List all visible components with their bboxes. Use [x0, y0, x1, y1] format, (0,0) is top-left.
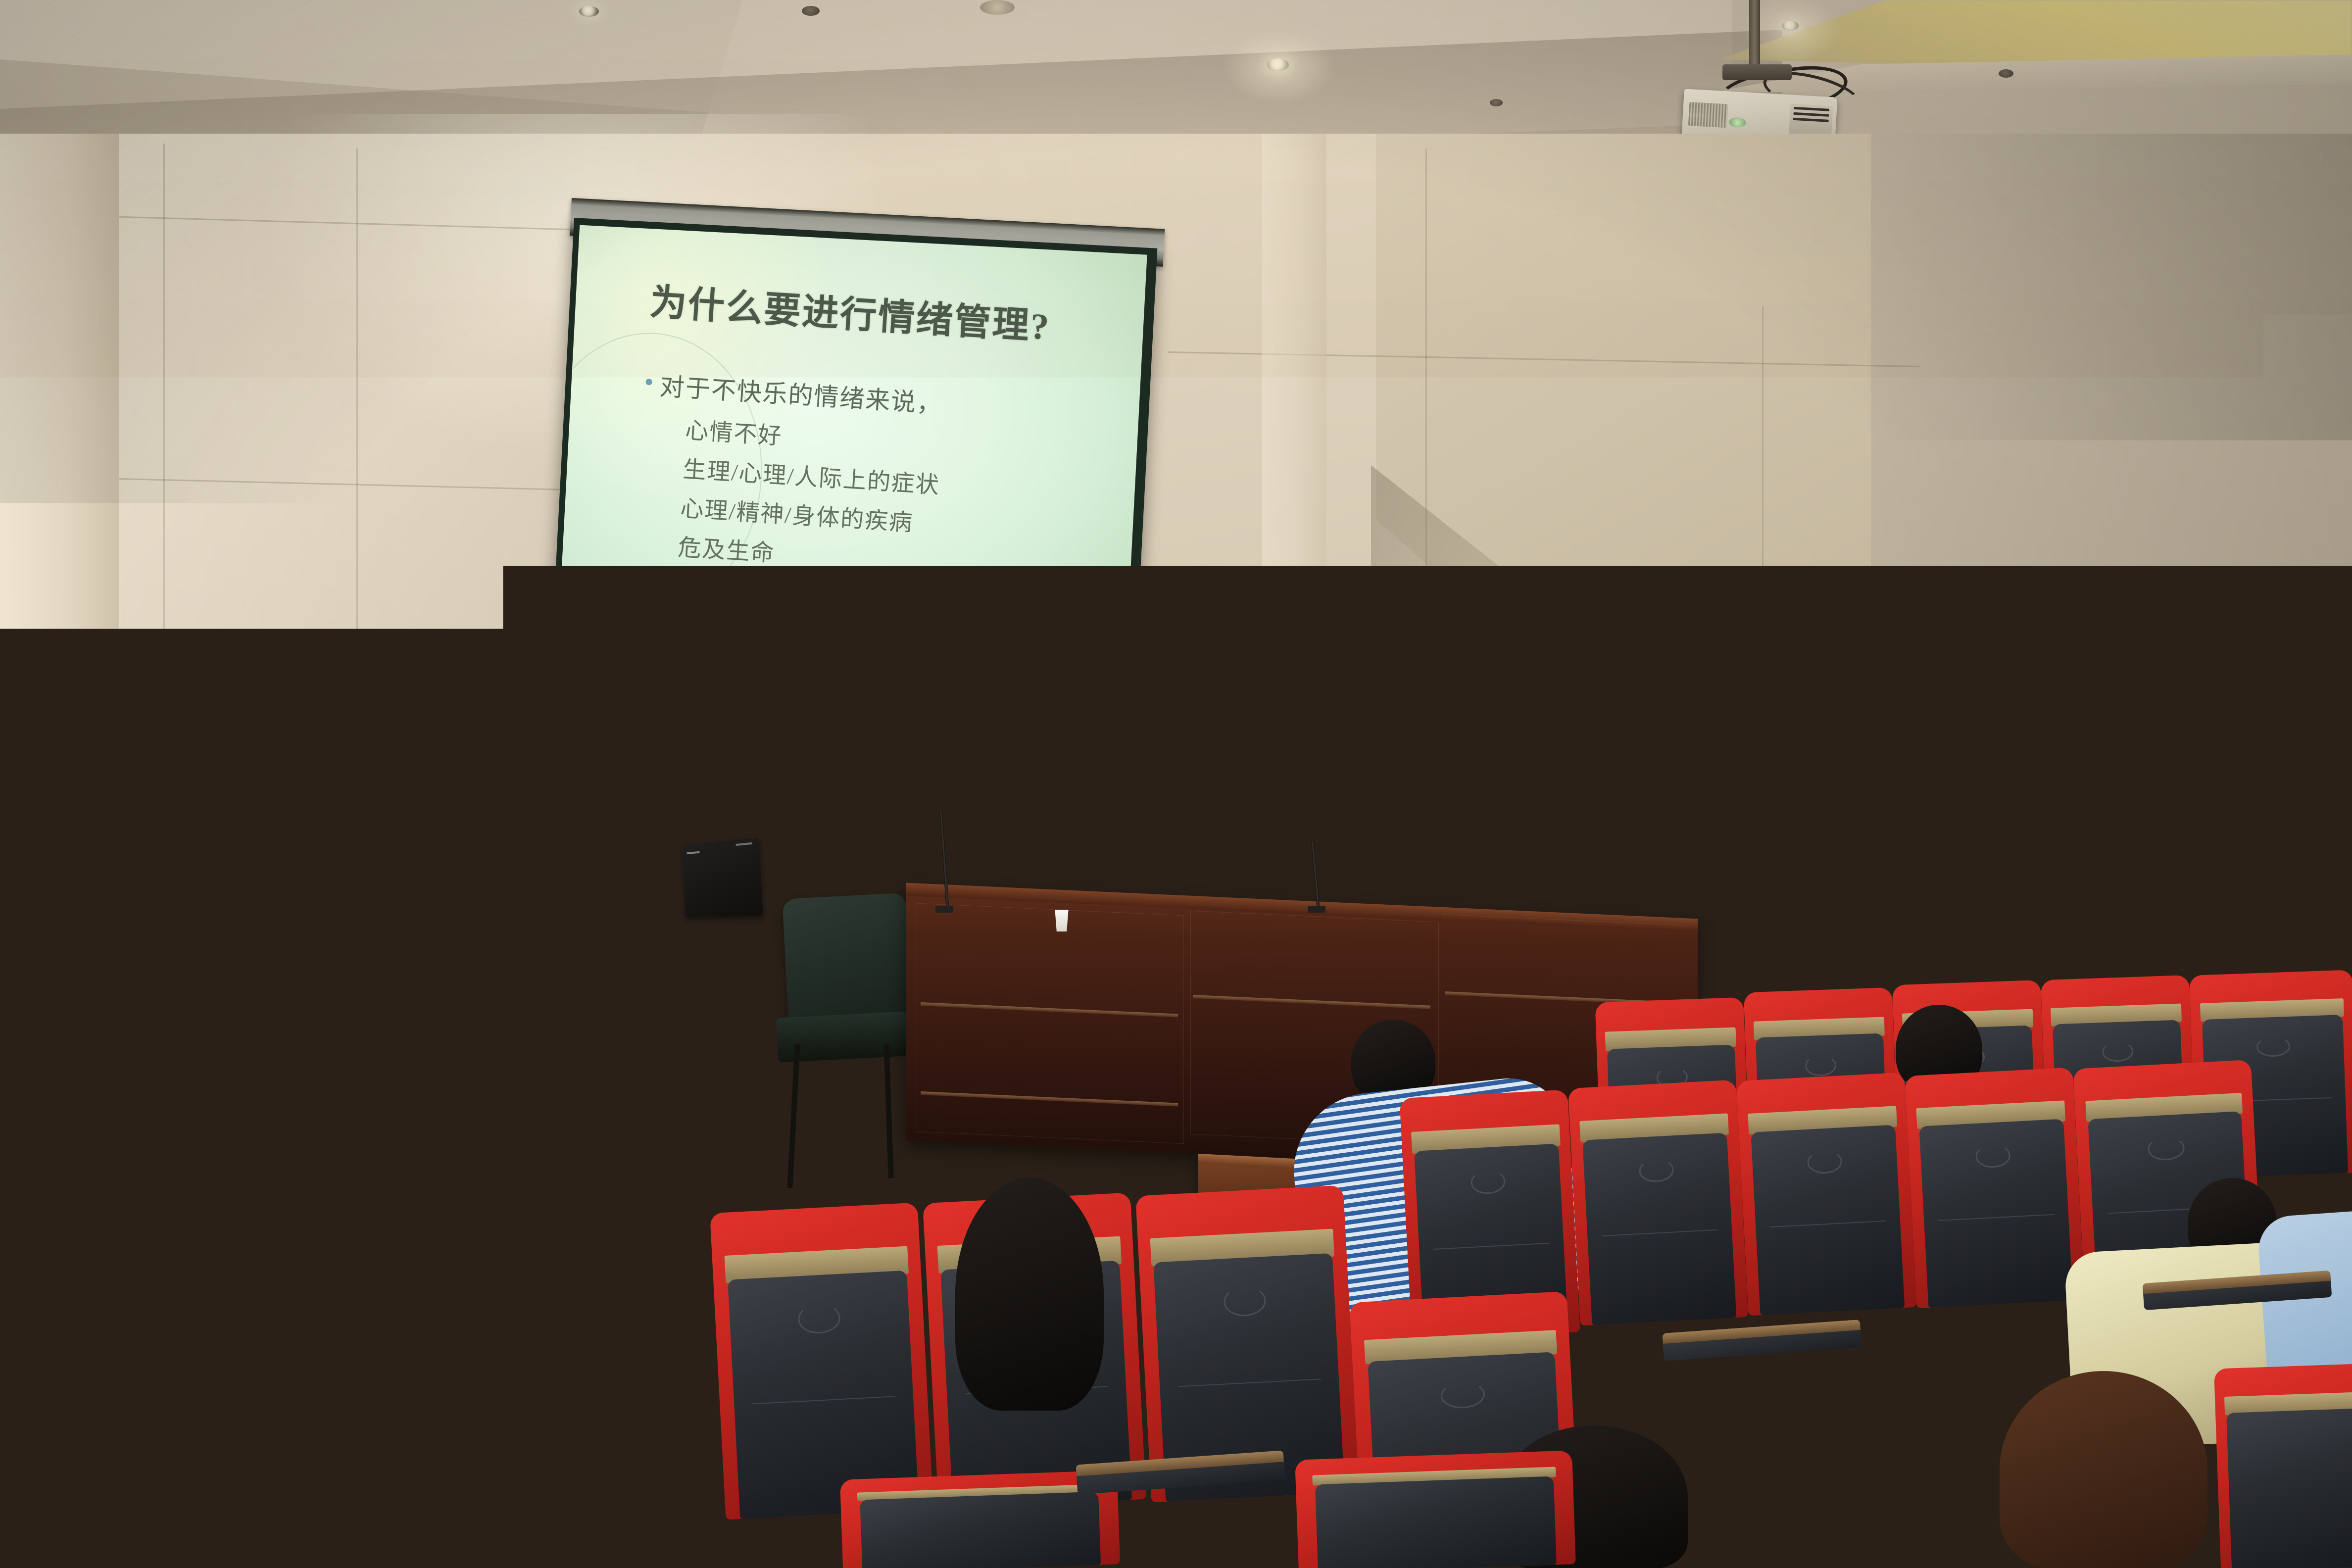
ceiling-spotlight-3 — [802, 6, 820, 16]
pa-speaker-logo-icon — [2038, 807, 2049, 818]
bottle-label — [630, 911, 652, 930]
seat-front-4[interactable] — [1295, 1450, 1576, 1568]
ceiling-spotlight-5 — [1782, 21, 1799, 31]
seat-r2-3[interactable] — [1736, 1072, 1916, 1316]
screen-tick-1 — [829, 747, 842, 756]
paper-cup-on-floor[interactable] — [448, 1359, 470, 1378]
projector-connector-panel — [1789, 103, 1833, 137]
seat-crease-line — [1602, 1229, 1717, 1236]
seat-back-panel — [1919, 1119, 2073, 1308]
window-sill-inner — [2034, 840, 2352, 853]
seat-back-panel — [860, 1491, 1101, 1568]
ceiling-spotlight-4 — [1490, 99, 1503, 106]
door-right[interactable] — [1709, 671, 1820, 1039]
audience-head-longhair-1 — [544, 1188, 708, 1425]
projector-lens — [1729, 117, 1746, 128]
seat-back-panel — [1315, 1476, 1557, 1568]
podium-lower-name: 华夏管理 — [642, 1103, 667, 1195]
window-pane-bright-2 — [2153, 616, 2179, 661]
slide-body: 对于不快乐的情绪来说， 心情不好 生理/心理/人际上的症状 心理/精神/身体的疾… — [634, 366, 946, 583]
exit-sign: 安全出口 EXIT — [1558, 637, 1612, 666]
seat-dimple-icon — [89, 1429, 145, 1451]
seat-back-panel — [2226, 1408, 2352, 1568]
wall-seam-v-1 — [163, 144, 165, 1133]
seat-dimple-icon — [1440, 1381, 1485, 1410]
seat-r2-4[interactable] — [1905, 1067, 2085, 1308]
presenter-eyebrow-right — [637, 775, 654, 779]
seat-dimple-icon — [1805, 1055, 1836, 1077]
wall-pilaster-mid — [1262, 134, 1326, 906]
screen-tick-3 — [967, 755, 980, 763]
lecture-hall-photo: Bolin 为什么要进行情绪管理? 对于不快乐的情绪来说， 心情不好 生理/心理… — [0, 0, 2352, 1568]
seat-dimple-icon — [1975, 1144, 2011, 1169]
ceiling-spotlight-6 — [1999, 69, 2013, 78]
presenter-shirt-placket — [625, 849, 629, 933]
exit-sign-subtext: EXIT — [1567, 653, 1603, 659]
projector-mount-rod — [1749, 0, 1760, 69]
seat-back-panel — [1751, 1125, 1905, 1315]
wall-power-outlet[interactable] — [31, 1128, 52, 1154]
wall-seam-v-3 — [1425, 148, 1427, 866]
wall-seam-v-2 — [356, 148, 358, 1128]
seat-dimple-icon — [2147, 1136, 2185, 1161]
audience-head-ponytail — [2000, 1371, 2207, 1568]
head-table-panel-1 — [916, 903, 1184, 1144]
desk-microphone-1-base — [935, 906, 953, 913]
power-adapter-plug — [368, 1246, 384, 1269]
microphone-head-icon — [657, 784, 678, 804]
desk-microphone-2-base — [1308, 906, 1325, 913]
exit-sign-text: 安全出口 — [1567, 644, 1603, 653]
ceiling-spotlight-1 — [579, 6, 599, 17]
audience-torso-dark-accent — [257, 1276, 361, 1368]
seat-crease-line — [752, 1396, 895, 1404]
window-mullion-2 — [2231, 600, 2244, 879]
seat-dimple-icon — [1638, 1158, 1674, 1183]
seat-front-5[interactable] — [2214, 1364, 2352, 1568]
bullet-dot-icon — [645, 379, 652, 386]
seat-dimple-icon — [797, 1303, 841, 1334]
seat-dimple-icon — [2256, 1035, 2291, 1057]
seat-crease-line — [1433, 1242, 1549, 1249]
seat-dimple-icon — [2102, 1041, 2133, 1062]
wall-pilaster-left — [0, 134, 119, 1163]
seat-crease-line — [1938, 1214, 2054, 1221]
seat-dimple-icon — [1807, 1149, 1843, 1174]
pa-speaker — [1988, 686, 2095, 828]
presenter-laptop[interactable] — [682, 837, 763, 917]
projection-screen-surface: 为什么要进行情绪管理? 对于不快乐的情绪来说， 心情不好 生理/心理/人际上的症… — [554, 225, 1147, 752]
projector-bracket — [1722, 64, 1792, 80]
laptop-screen-highlight-1 — [686, 851, 699, 854]
seat-crease-line — [1770, 1221, 1886, 1227]
seat-dimple-icon — [1470, 1169, 1506, 1195]
ceiling-spotlight-2 — [1267, 58, 1289, 71]
laptop-screen-highlight-2 — [736, 842, 752, 846]
smoke-detector — [980, 0, 1015, 15]
seat-back-panel — [1582, 1132, 1737, 1325]
screen-tick-2 — [898, 751, 911, 760]
microphone-red-ring — [662, 803, 672, 807]
audience-head-longhair-2 — [955, 1178, 1104, 1411]
door-right-handle[interactable] — [1796, 851, 1804, 864]
bottle-cap — [634, 878, 648, 889]
seat-r3-1[interactable] — [710, 1202, 933, 1519]
seat-crease-line — [1178, 1378, 1321, 1387]
seat-r2-2[interactable] — [1568, 1079, 1749, 1325]
presenter-eye-right — [639, 784, 650, 788]
water-bottle[interactable] — [630, 887, 652, 949]
presenter-eye-left — [616, 786, 627, 790]
projection-screen: 为什么要进行情绪管理? 对于不快乐的情绪来说， 心情不好 生理/心理/人际上的症… — [546, 218, 1157, 787]
seat-dimple-icon — [1223, 1285, 1267, 1317]
projector-vent — [1688, 102, 1728, 128]
